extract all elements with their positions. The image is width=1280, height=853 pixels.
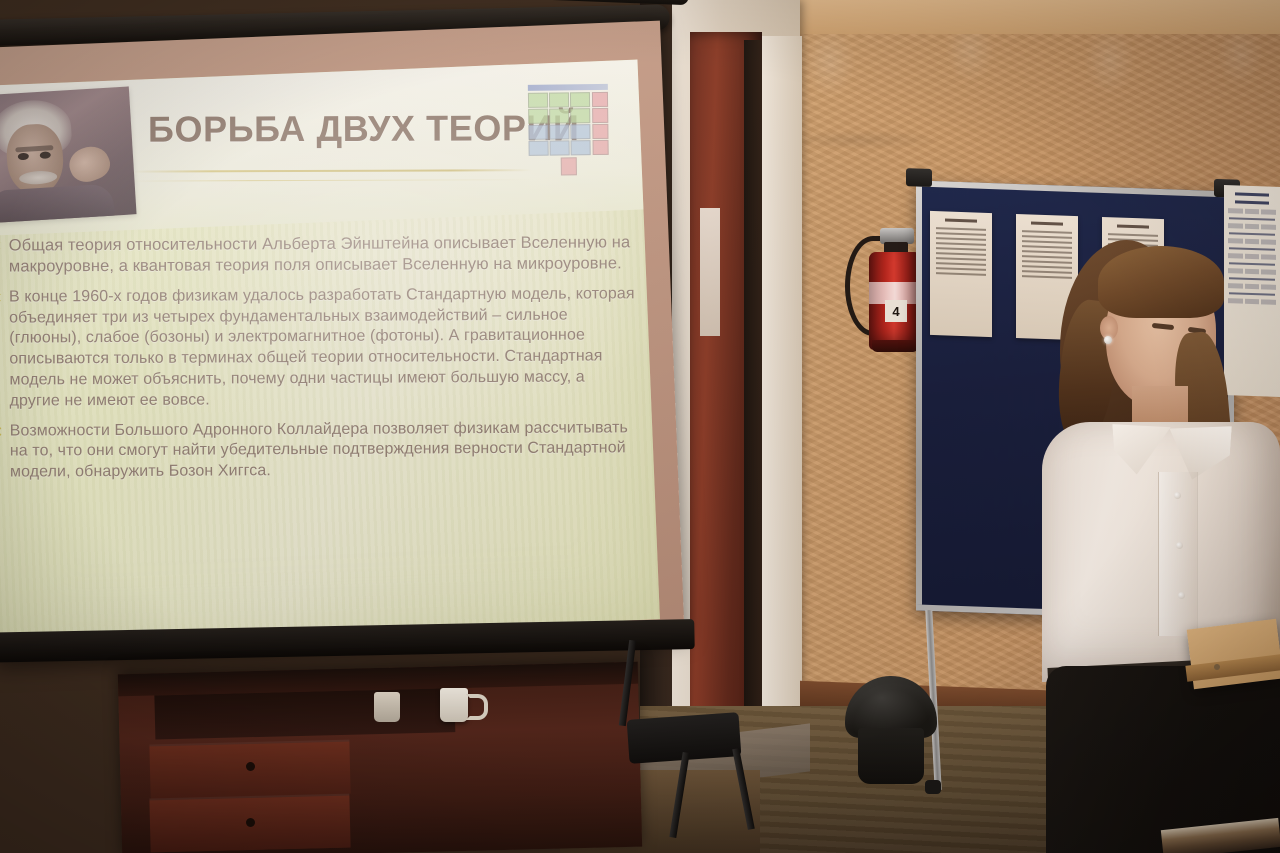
slide-bullet-item: ✕ В конце 1960-х годов физикам удалось р… xyxy=(0,284,639,412)
blouse-button xyxy=(1176,542,1183,549)
door-gap xyxy=(744,40,762,790)
standard-model-particle-table xyxy=(528,84,609,189)
blouse-button xyxy=(1178,592,1185,599)
drawer-knob[interactable] xyxy=(246,762,255,771)
blouse-button xyxy=(1174,492,1181,499)
slide-bullet-text: Общая теория относительности Альберта Эй… xyxy=(9,232,638,278)
einstein-photo xyxy=(0,86,137,223)
noticeboard-foot xyxy=(925,780,941,794)
pearl-earring-icon xyxy=(1104,336,1112,344)
quarks-and-leptons xyxy=(528,92,591,156)
presentation-slide: БОРЬБА ДВУХ ТЕОРИЙ xyxy=(0,60,660,646)
slide-title: БОРЬБА ДВУХ ТЕОРИЙ xyxy=(148,107,508,150)
einstein-face xyxy=(5,123,65,196)
einstein-hand xyxy=(65,141,115,187)
fire-extinguisher-base xyxy=(872,340,918,352)
table-screw xyxy=(1214,664,1220,670)
particle-table-grid xyxy=(528,92,609,156)
projection-screen: БОРЬБА ДВУХ ТЕОРИЙ xyxy=(0,0,694,658)
slide-bullet-text: В конце 1960-х годов физикам удалось раз… xyxy=(9,284,639,412)
desk-shelf xyxy=(154,688,455,739)
bullet-marker-icon: ✕ xyxy=(0,421,3,483)
notice-sheet[interactable] xyxy=(930,211,992,337)
bullet-marker-icon: ✕ xyxy=(0,236,2,279)
particle-table-header xyxy=(528,84,608,91)
mug[interactable] xyxy=(440,688,468,722)
fire-extinguisher-number: 4 xyxy=(885,300,907,322)
bullet-marker-icon: ✕ xyxy=(0,287,3,412)
mug-handle xyxy=(466,694,488,720)
mug[interactable] xyxy=(374,692,400,722)
drawer-knob[interactable] xyxy=(246,818,255,827)
door-notice-paper xyxy=(700,208,720,336)
higgs-boson-cell xyxy=(561,157,577,175)
classroom-photo-scene: 4 xyxy=(0,0,1280,853)
noticeboard-clip-left xyxy=(906,168,932,187)
slide-bullet-text: Возможности Большого Адронного Коллайдер… xyxy=(10,418,640,484)
screen-surface: БОРЬБА ДВУХ ТЕОРИЙ xyxy=(0,21,684,660)
student-presenter xyxy=(1036,236,1280,853)
trash-bin[interactable] xyxy=(858,728,924,784)
door-jamb xyxy=(762,36,802,792)
slide-bullet-item: ✕ Общая теория относительности Альберта … xyxy=(0,232,638,278)
hair-top xyxy=(1098,246,1224,318)
gauge-bosons-column xyxy=(592,92,609,155)
slide-bullet-list: ✕ Общая теория относительности Альберта … xyxy=(0,232,639,492)
slide-bullet-item: ✕ Возможности Большого Адронного Коллайд… xyxy=(0,418,639,484)
